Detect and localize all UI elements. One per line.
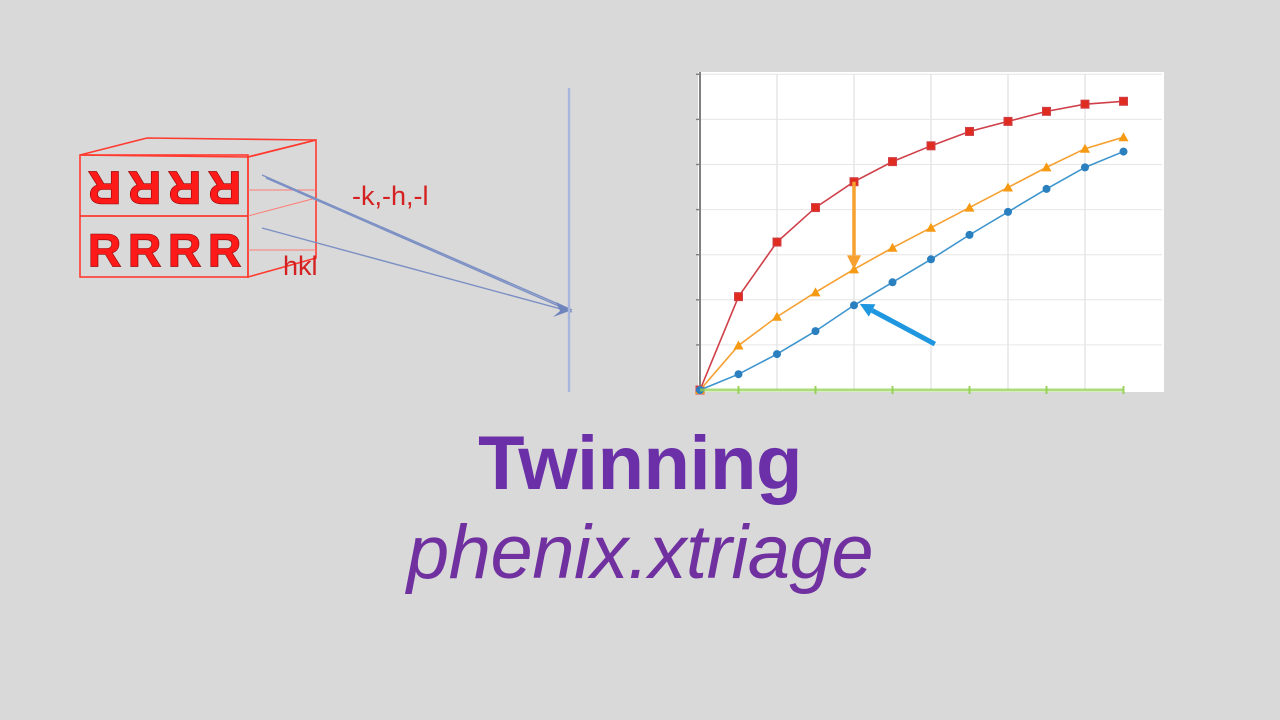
twin-lattice-diagram: R R R R R R R R -k, (0, 0, 620, 420)
svg-text:R: R (208, 224, 241, 276)
title-block: Twinning phenix.xtriage (0, 425, 1280, 596)
label-twin-operator: -k,-h,-l (352, 181, 429, 211)
svg-text:R: R (128, 224, 161, 276)
slide-canvas: R R R R R R R R -k, (0, 0, 1280, 720)
intensity-statistics-chart (690, 64, 1170, 400)
svg-text:R: R (208, 162, 241, 214)
diagram-svg: R R R R R R R R -k, (0, 0, 620, 420)
svg-text:R: R (128, 162, 161, 214)
chart-svg (690, 64, 1170, 400)
svg-text:R: R (88, 162, 121, 214)
twin-letter-row-bottom: R R R R (88, 224, 241, 276)
page-title: Twinning (0, 425, 1280, 503)
twin-letter-row-top: R R R R (88, 162, 241, 214)
svg-text:R: R (168, 162, 201, 214)
page-subtitle: phenix.xtriage (0, 509, 1280, 596)
label-hkl: hkl (283, 251, 318, 281)
svg-text:R: R (168, 224, 201, 276)
svg-text:R: R (88, 224, 121, 276)
